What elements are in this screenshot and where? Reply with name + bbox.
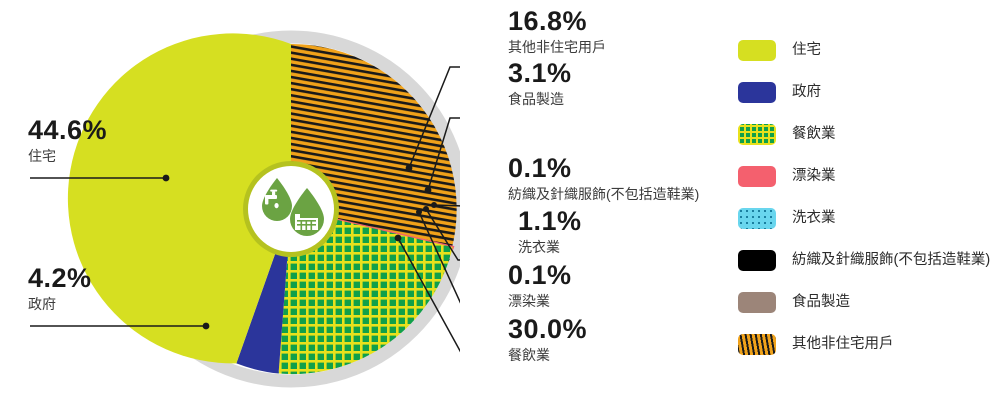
callout-textile-pct: 0.1% — [508, 155, 699, 182]
legend-item-residential[interactable]: 住宅 — [738, 36, 1000, 65]
legend-label-residential: 住宅 — [792, 43, 821, 58]
legend-swatch-government — [738, 82, 776, 103]
legend: 住宅 政府 餐飲業 漂染業 洗衣業 紡織及針織服飾(不包括造鞋業) 食品製造 — [738, 36, 1000, 372]
callout-other-nonres-pct: 16.8% — [508, 8, 606, 35]
leader-line-textile — [434, 205, 460, 206]
legend-label-catering: 餐飲業 — [792, 127, 836, 142]
callout-food-mfg-cat: 食品製造 — [508, 90, 572, 109]
leader-dot-other-nonres — [406, 165, 413, 172]
callout-laundry: 1.1% 洗衣業 — [518, 208, 582, 257]
callout-bleach-dye: 0.1% 漂染業 — [508, 262, 572, 311]
legend-swatch-laundry — [738, 208, 776, 229]
callout-residential: 44.6% 住宅 — [28, 117, 107, 166]
callout-catering: 30.0% 餐飲業 — [508, 316, 587, 365]
legend-swatch-other-nonres — [738, 334, 776, 355]
callout-government-cat: 政府 — [28, 295, 92, 314]
callout-residential-pct: 44.6% — [28, 117, 107, 144]
leader-dot-residential — [163, 175, 170, 182]
legend-label-textile: 紡織及針織服飾(不包括造鞋業) — [792, 253, 990, 268]
callout-food-mfg: 3.1% 食品製造 — [508, 60, 572, 109]
legend-label-other-nonres: 其他非住宅用戶 — [792, 337, 894, 352]
legend-swatch-residential — [738, 40, 776, 61]
callout-laundry-cat: 洗衣業 — [518, 238, 582, 257]
legend-label-laundry: 洗衣業 — [792, 211, 836, 226]
legend-swatch-bleach-dye — [738, 166, 776, 187]
leader-dot-government — [203, 323, 210, 330]
callout-other-nonres-cat: 其他非住宅用戶 — [508, 38, 606, 57]
callout-government-pct: 4.2% — [28, 265, 92, 292]
callout-bleach-dye-pct: 0.1% — [508, 262, 572, 289]
callout-residential-cat: 住宅 — [28, 147, 107, 166]
leader-dot-food-mfg — [425, 187, 432, 194]
legend-item-bleach-dye[interactable]: 漂染業 — [738, 162, 1000, 191]
callout-textile: 0.1% 紡織及針織服飾(不包括造鞋業) — [508, 155, 699, 204]
leader-dot-catering — [395, 235, 402, 242]
pie-chart-infographic: 44.6% 住宅 4.2% 政府 16.8% 其他非住宅用戶 3.1% 食品製造… — [0, 0, 1000, 400]
pie-chart-container — [0, 0, 460, 400]
callout-food-mfg-pct: 3.1% — [508, 60, 572, 87]
callout-government: 4.2% 政府 — [28, 265, 92, 314]
leader-dot-bleach-dye — [416, 209, 422, 215]
legend-item-government[interactable]: 政府 — [738, 78, 1000, 107]
callout-bleach-dye-cat: 漂染業 — [508, 292, 572, 311]
callout-laundry-pct: 1.1% — [518, 208, 582, 235]
leader-dot-laundry — [423, 206, 429, 212]
callout-other-nonres: 16.8% 其他非住宅用戶 — [508, 8, 606, 57]
callout-textile-cat: 紡織及針織服飾(不包括造鞋業) — [508, 185, 699, 204]
legend-label-government: 政府 — [792, 85, 821, 100]
legend-item-laundry[interactable]: 洗衣業 — [738, 204, 1000, 233]
callout-catering-cat: 餐飲業 — [508, 346, 587, 365]
leader-dot-textile — [431, 202, 437, 208]
legend-label-bleach-dye: 漂染業 — [792, 169, 836, 184]
legend-swatch-food-mfg — [738, 292, 776, 313]
legend-swatch-textile — [738, 250, 776, 271]
legend-item-food-mfg[interactable]: 食品製造 — [738, 288, 1000, 317]
legend-label-food-mfg: 食品製造 — [792, 295, 850, 310]
legend-item-other-nonres[interactable]: 其他非住宅用戶 — [738, 330, 1000, 359]
pie-chart-svg — [0, 0, 460, 400]
legend-swatch-catering — [738, 124, 776, 145]
legend-item-catering[interactable]: 餐飲業 — [738, 120, 1000, 149]
callout-catering-pct: 30.0% — [508, 316, 587, 343]
legend-item-textile[interactable]: 紡織及針織服飾(不包括造鞋業) — [738, 246, 1000, 275]
